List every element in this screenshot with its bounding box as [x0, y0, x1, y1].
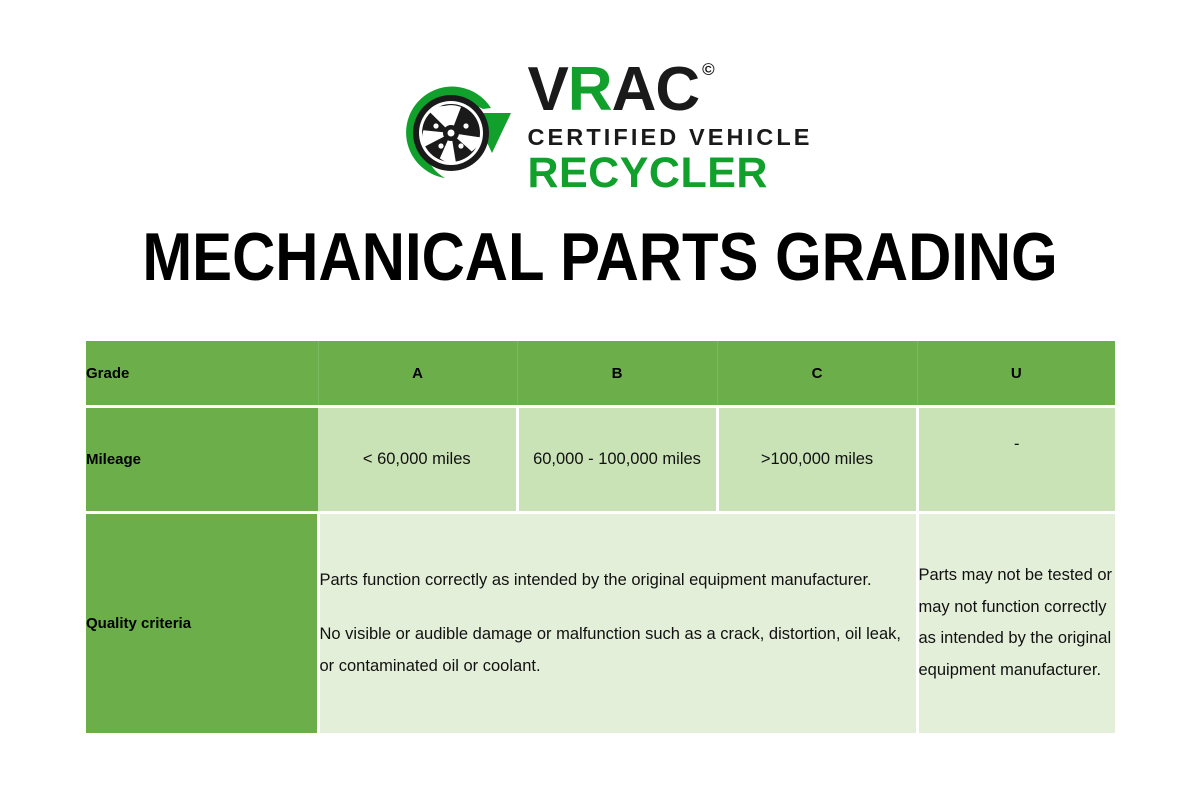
- column-header-grade: Grade: [86, 341, 318, 407]
- logo-line-certified-vehicle: CERTIFIED VEHICLE: [527, 126, 812, 150]
- logo-line-vrac: VRAC©: [527, 59, 710, 121]
- row-label-quality-criteria: Quality criteria: [86, 512, 318, 733]
- cell-mileage-c: >100,000 miles: [717, 407, 917, 513]
- cell-mileage-a: < 60,000 miles: [318, 407, 517, 513]
- logo-wordmark: VRAC© CERTIFIED VEHICLE RECYCLER: [527, 59, 812, 196]
- row-label-mileage: Mileage: [86, 407, 318, 513]
- copyright-icon: ©: [702, 61, 714, 78]
- recycling-wheel-icon: [387, 61, 519, 193]
- logo-letter-r: R: [568, 59, 612, 121]
- column-header-a: A: [318, 341, 517, 407]
- brand-logo: VRAC© CERTIFIED VEHICLE RECYCLER: [0, 52, 1200, 202]
- cell-quality-u: Parts may not be tested or may not funct…: [917, 512, 1115, 733]
- logo-line-recycler: RECYCLER: [527, 152, 768, 195]
- logo-letter-v: V: [527, 59, 567, 121]
- column-header-b: B: [517, 341, 717, 407]
- quality-paragraph-1: Parts function correctly as intended by …: [320, 564, 916, 596]
- cell-mileage-b: 60,000 - 100,000 miles: [517, 407, 717, 513]
- page-title: MECHANICAL PARTS GRADING: [72, 218, 1128, 296]
- cell-mileage-u: -: [917, 407, 1115, 513]
- logo-letters-ac: AC: [612, 59, 700, 121]
- column-header-c: C: [717, 341, 917, 407]
- table-row-quality-criteria: Quality criteria Parts function correctl…: [86, 512, 1115, 733]
- page-root: VRAC© CERTIFIED VEHICLE RECYCLER MECHANI…: [0, 0, 1200, 800]
- table-header-row: Grade A B C U: [86, 341, 1115, 407]
- mechanical-parts-grading-table: Grade A B C U Mileage < 60,000 miles 60,…: [86, 341, 1115, 733]
- cell-quality-abc: Parts function correctly as intended by …: [318, 512, 917, 733]
- quality-paragraph-2: No visible or audible damage or malfunct…: [320, 618, 916, 682]
- logo-inner: VRAC© CERTIFIED VEHICLE RECYCLER: [387, 59, 812, 196]
- column-header-u: U: [917, 341, 1115, 407]
- table-row-mileage: Mileage < 60,000 miles 60,000 - 100,000 …: [86, 407, 1115, 513]
